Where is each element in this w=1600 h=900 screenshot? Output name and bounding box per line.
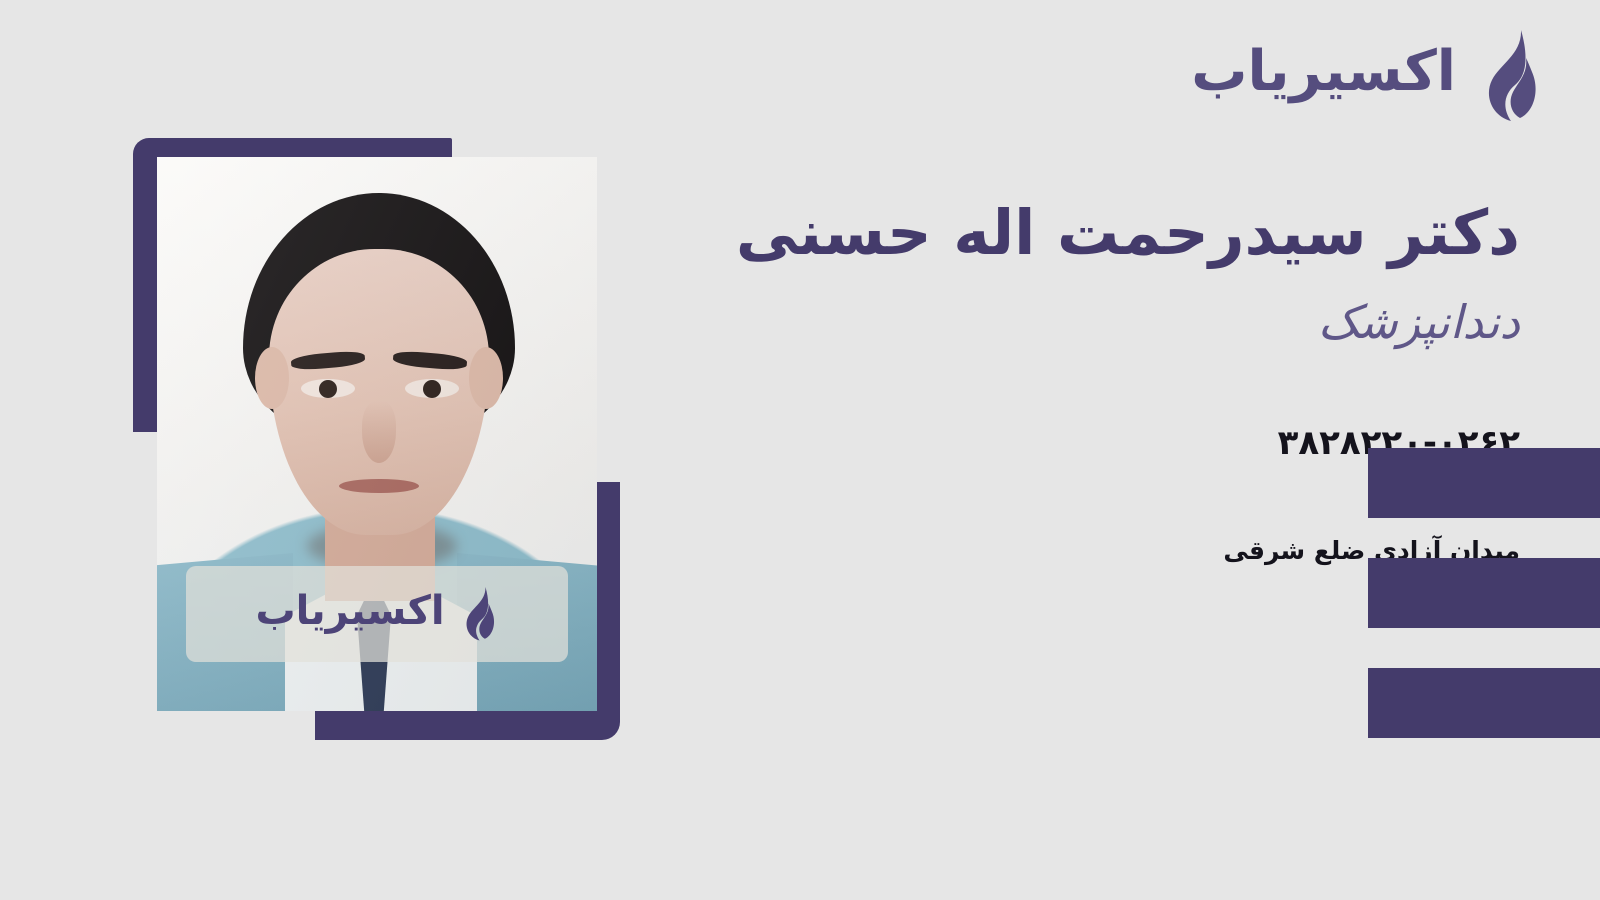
decor-bar-3 — [1368, 668, 1600, 738]
doctor-profile-card: اکسیریاب — [0, 0, 1600, 900]
portrait-ear-left — [255, 347, 289, 409]
brand-logo[interactable]: اکسیریاب — [1191, 28, 1544, 124]
brand-name: اکسیریاب — [1191, 44, 1456, 108]
portrait-ear-right — [469, 347, 503, 409]
flame-drop-icon — [453, 584, 499, 644]
portrait-eye-left — [301, 379, 355, 398]
photo-watermark: اکسیریاب — [186, 566, 568, 662]
portrait-mouth — [339, 479, 419, 493]
decor-bar-1 — [1368, 448, 1600, 518]
doctor-specialty: دندانپزشک — [620, 295, 1520, 350]
watermark-brand-name: اکسیریاب — [255, 591, 444, 637]
photo-block: اکسیریاب — [0, 0, 700, 900]
portrait-eye-right — [405, 379, 459, 398]
portrait-nose — [362, 401, 396, 463]
flame-drop-icon — [1466, 28, 1544, 124]
page-title: دکتر سیدرحمت اله حسنی — [620, 196, 1520, 269]
decor-bar-2 — [1368, 558, 1600, 628]
